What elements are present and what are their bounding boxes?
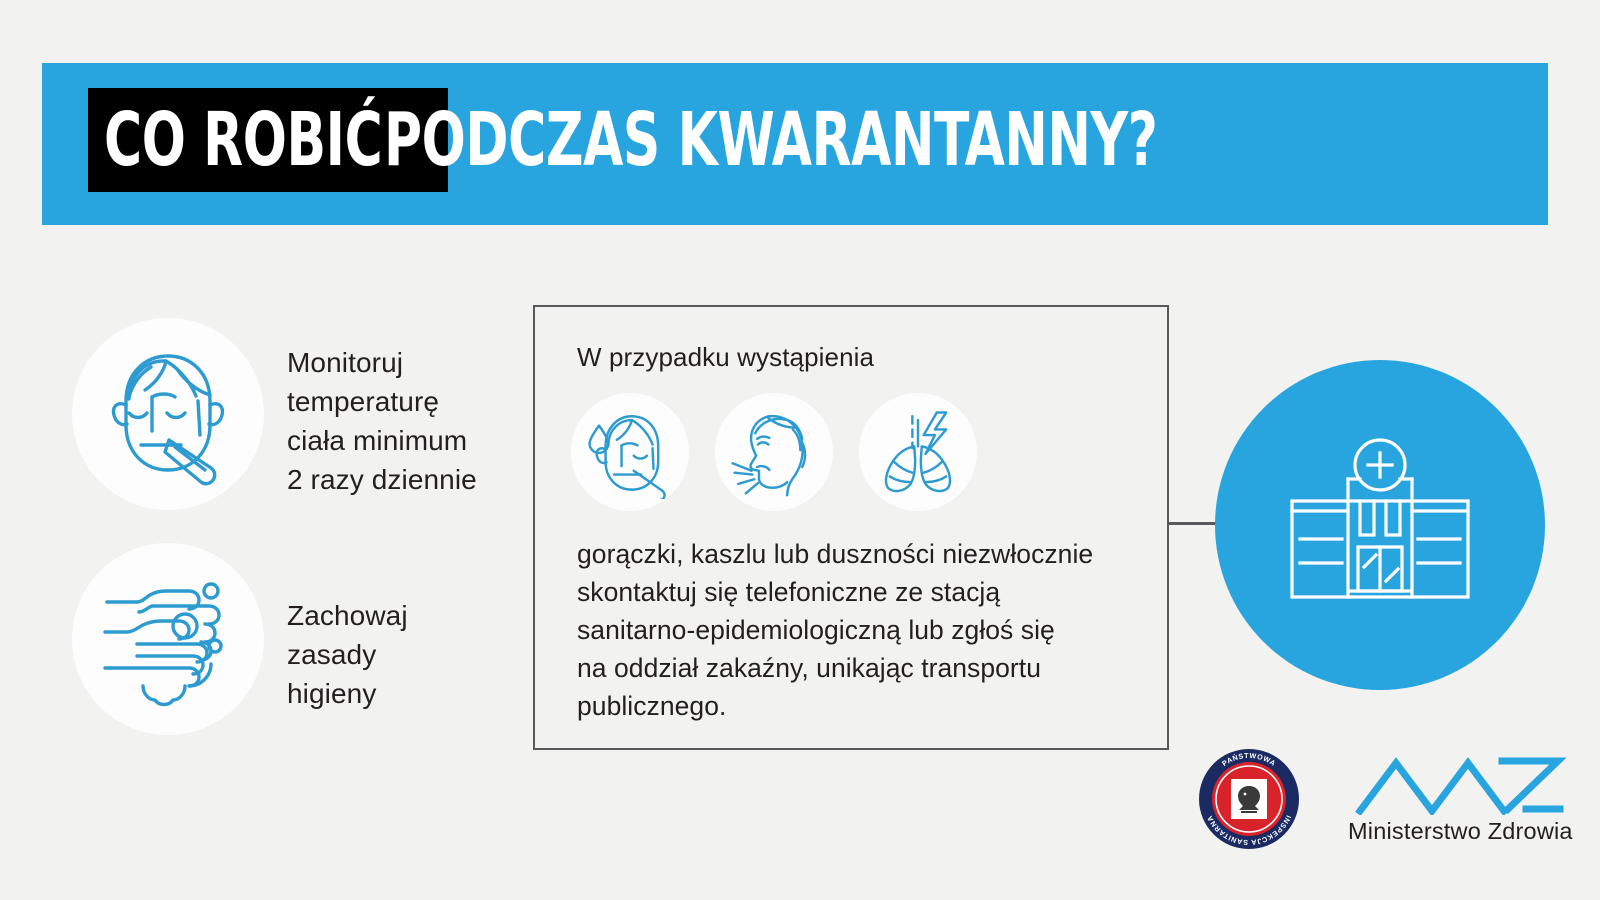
fever-face-icon xyxy=(571,393,689,511)
symptom-icon-row xyxy=(571,393,977,511)
ministry-name: Ministerstwo Zdrowia xyxy=(1348,818,1573,845)
title-rest-text: PODCZAS KWARANTANNY? xyxy=(384,103,1164,177)
tip-label-hygiene: Zachowaj zasady higieny xyxy=(287,596,408,713)
tip-item-hygiene: Zachowaj zasady higieny xyxy=(72,543,408,735)
box-lead-text: W przypadku wystąpienia xyxy=(577,340,874,374)
title-highlight-text: CO ROBIĆ xyxy=(104,103,361,177)
ministry-of-health-logo: Ministerstwo Zdrowia xyxy=(1348,753,1573,845)
hand-washing-icon xyxy=(72,543,264,735)
symptom-instruction-box: W przypadku wystąpienia xyxy=(533,305,1169,750)
footer-logos: PAŃSTWOWA INSPEKCJA SANITARNA Ministerst… xyxy=(1198,748,1573,850)
tip-item-temperature: Monitoruj temperaturę ciała minimum 2 ra… xyxy=(72,318,477,510)
infographic-canvas: CO ROBIĆ PODCZAS KWARANTANNY? xyxy=(0,0,1600,900)
coughing-face-icon xyxy=(715,393,833,511)
title-rest-block: PODCZAS KWARANTANNY? xyxy=(384,88,1384,192)
box-body-text: gorączki, kaszlu lub duszności niezwłocz… xyxy=(577,535,1137,725)
page-title: CO ROBIĆ PODCZAS KWARANTANNY? xyxy=(88,88,1384,192)
tip-label-temperature: Monitoruj temperaturę ciała minimum 2 ra… xyxy=(287,343,477,499)
panstwowa-inspekcja-sanitarna-seal: PAŃSTWOWA INSPEKCJA SANITARNA xyxy=(1198,748,1300,850)
lungs-breathing-difficulty-icon xyxy=(859,393,977,511)
hospital-circle xyxy=(1215,360,1545,690)
face-thermometer-icon xyxy=(72,318,264,510)
mz-logo-mark xyxy=(1354,753,1566,815)
